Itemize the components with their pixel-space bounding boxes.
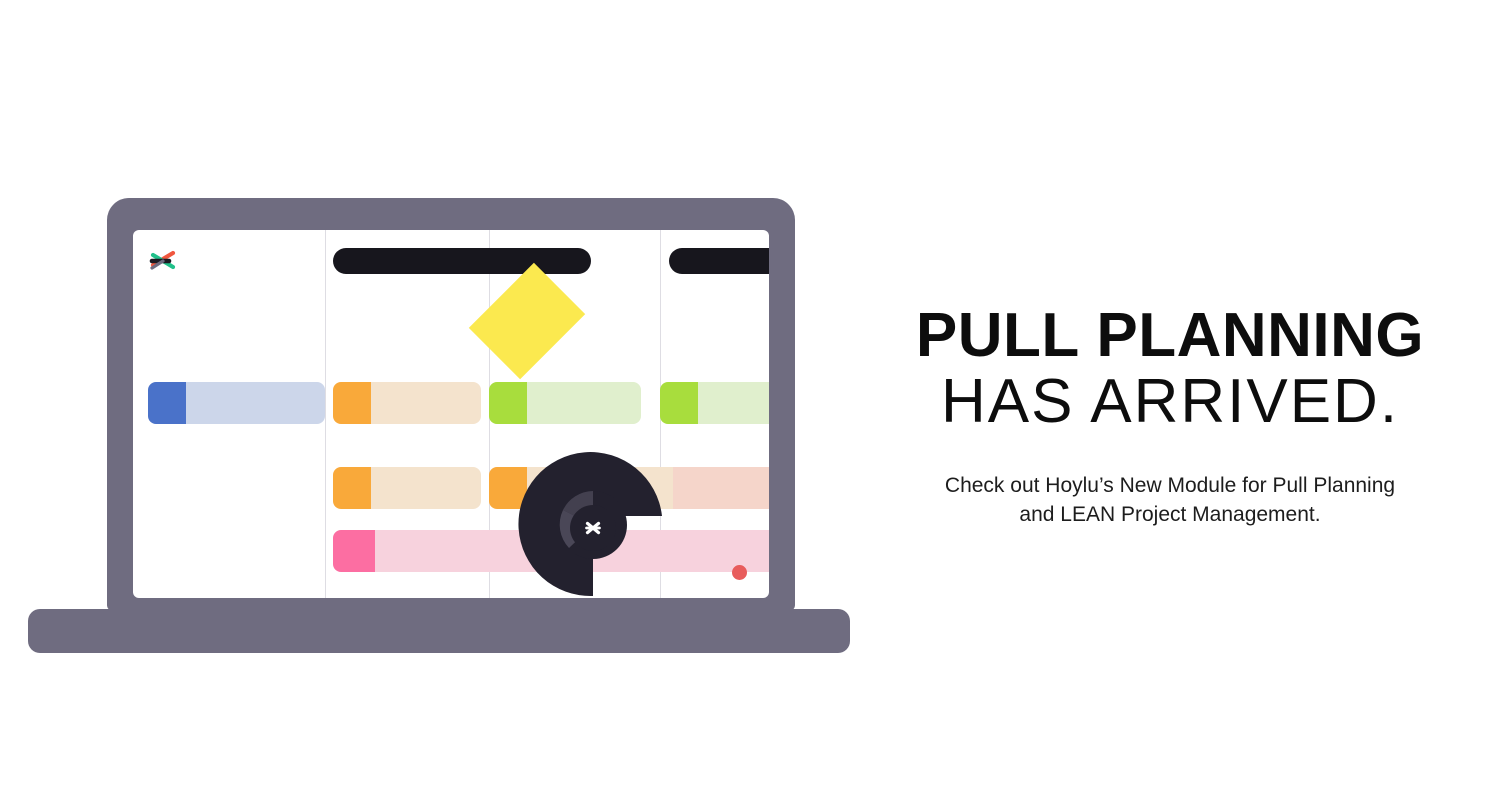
headline-secondary: HAS ARRIVED. [880, 367, 1460, 436]
task-bar-tail [673, 467, 769, 509]
task-bar-orange-2[interactable] [333, 467, 481, 509]
laptop-base [28, 609, 850, 653]
radial-menu-cursor[interactable] [514, 449, 664, 597]
subcopy: Check out Hoylu’s New Module for Pull Pl… [880, 472, 1460, 530]
column-divider-2 [325, 230, 326, 598]
task-bar-tail [371, 467, 481, 509]
milestone-diamond [469, 263, 585, 379]
task-bar-tail [186, 382, 325, 424]
hoylu-x-icon [581, 516, 605, 540]
task-bar-green-2[interactable] [660, 382, 769, 424]
laptop-screen [133, 230, 769, 598]
task-bar-head [333, 382, 371, 424]
task-bar-head [148, 382, 186, 424]
task-bar-green-1[interactable] [489, 382, 641, 424]
task-bar-tail [527, 382, 641, 424]
task-bar-tail [698, 382, 769, 424]
promo-banner: PULL PLANNING HAS ARRIVED. Check out Hoy… [0, 0, 1500, 791]
task-bar-orange-1[interactable] [333, 382, 481, 424]
status-dot[interactable] [732, 565, 747, 580]
radial-center-badge[interactable] [570, 505, 616, 551]
task-bar-head [489, 382, 527, 424]
headline-primary: PULL PLANNING [880, 305, 1460, 367]
subcopy-line-1: Check out Hoylu’s New Module for Pull Pl… [880, 472, 1460, 501]
task-bar-head [660, 382, 698, 424]
header-bar-2 [669, 248, 769, 274]
task-bar-head [333, 530, 375, 572]
task-bar-tail [371, 382, 481, 424]
copy-panel: PULL PLANNING HAS ARRIVED. Check out Hoy… [880, 305, 1460, 530]
header-bar-1 [333, 248, 591, 274]
subcopy-line-2: and LEAN Project Management. [880, 501, 1460, 530]
laptop-illustration [28, 198, 850, 654]
hoylu-logo [148, 246, 178, 276]
task-bar-head [333, 467, 371, 509]
task-bar-blue[interactable] [148, 382, 325, 424]
task-bar-peach[interactable] [673, 467, 769, 509]
